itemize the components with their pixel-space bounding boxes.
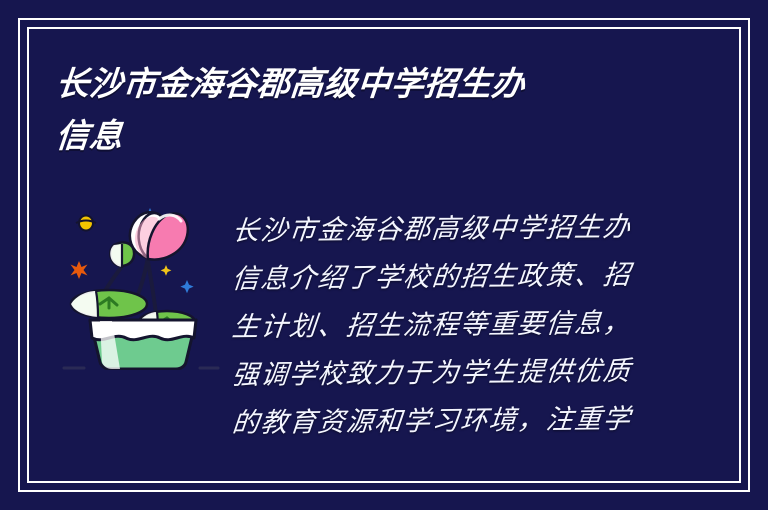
body-line-3: 生计划、招生流程等重要信息，: [230, 300, 655, 352]
body-line-5: 的教育资源和学习环境，注重学: [230, 396, 655, 448]
body-line-2: 信息介绍了学校的招生政策、招: [230, 252, 655, 304]
title-line-2: 信息: [54, 110, 679, 162]
planet-yellow-icon: [76, 216, 96, 231]
info-card: 长沙市金海谷郡高级中学招生办 信息: [0, 0, 768, 510]
plant-bud-leaf: [110, 242, 134, 268]
flower-pot: [90, 320, 196, 369]
starburst-orange-icon: [71, 261, 88, 279]
lily-pad-left: [71, 290, 147, 318]
body-text: 长沙市金海谷郡高级中学招生办 信息介绍了学校的招生政策、招 生计划、招生流程等重…: [232, 208, 652, 448]
potted-lotus-plant-illustration: [62, 192, 220, 370]
lotus-flower: [130, 212, 188, 259]
page-title: 长沙市金海谷郡高级中学招生办 信息: [56, 58, 676, 162]
body-line-4: 强调学校致力于为学生提供优质: [230, 348, 655, 400]
title-line-1: 长沙市金海谷郡高级中学招生办: [54, 58, 679, 110]
sparkle-yellow-icon: [161, 265, 172, 276]
body-line-1: 长沙市金海谷郡高级中学招生办: [230, 204, 655, 256]
sparkle-blue-bottom-icon: [180, 280, 193, 293]
